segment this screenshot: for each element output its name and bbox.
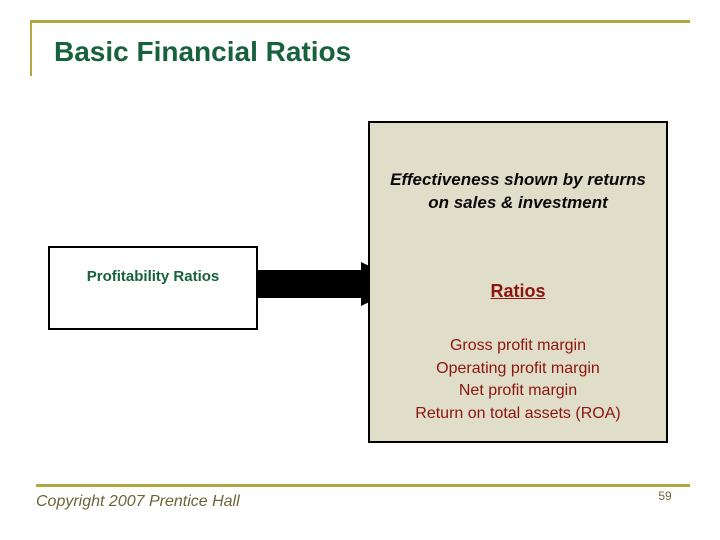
page-number: 59 [645,489,685,503]
panel-subheading: Ratios [380,281,656,302]
page-title: Basic Financial Ratios [54,36,351,68]
effectiveness-panel: Effectiveness shown by returns on sales … [368,121,668,443]
footer-copyright: Copyright 2007 Prentice Hall [36,493,240,511]
list-item: Operating profit margin [378,358,658,381]
header-accent-rule [30,20,690,23]
panel-heading: Effectiveness shown by returns on sales … [380,169,656,215]
list-item: Return on total assets (ROA) [378,403,658,426]
header-accent-bracket [30,20,32,76]
ratio-list: Gross profit margin Operating profit mar… [378,335,658,426]
list-item: Gross profit margin [378,335,658,358]
slide-canvas: Basic Financial Ratios Profitability Rat… [0,0,720,540]
list-item: Net profit margin [378,380,658,403]
profitability-ratios-label: Profitability Ratios [50,268,256,285]
profitability-ratios-box: Profitability Ratios [48,246,258,330]
footer-accent-rule [36,484,690,487]
